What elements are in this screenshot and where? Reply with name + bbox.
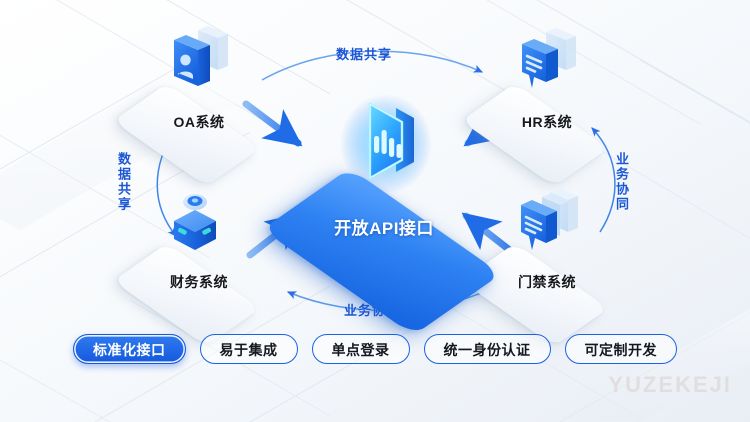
- node-access[interactable]: 门禁系统: [472, 212, 622, 316]
- tag-unified-identity-auth[interactable]: 统一身份认证: [424, 334, 551, 364]
- node-oa[interactable]: OA系统: [124, 52, 274, 156]
- tag-standard-interface[interactable]: 标准化接口: [73, 334, 186, 364]
- tag-customizable-development[interactable]: 可定制开发: [565, 334, 678, 364]
- watermark-yuzekeji: YUZEKEJI: [608, 372, 732, 398]
- edge-label-oa-to-hr: 数据共享: [336, 44, 392, 63]
- node-hr[interactable]: HR系统: [472, 52, 622, 156]
- edge-label-oa-to-finance: 数据共享: [114, 152, 133, 212]
- edge-label-access-to-hr: 业务协同: [612, 152, 631, 212]
- node-open-api[interactable]: 开放API接口: [284, 136, 484, 276]
- tag-single-sign-on[interactable]: 单点登录: [312, 334, 410, 364]
- diagram-canvas: 数据共享 数据共享 业务协同 业务协同: [0, 0, 750, 422]
- node-plinth: [113, 83, 260, 186]
- tag-easy-integration[interactable]: 易于集成: [200, 334, 298, 364]
- center-plinth: [262, 168, 501, 335]
- feature-tag-row: 标准化接口 易于集成 单点登录 统一身份认证 可定制开发: [0, 334, 750, 364]
- node-finance[interactable]: 财务系统: [124, 212, 274, 316]
- node-plinth: [113, 243, 260, 346]
- user-card-icon: [164, 22, 234, 98]
